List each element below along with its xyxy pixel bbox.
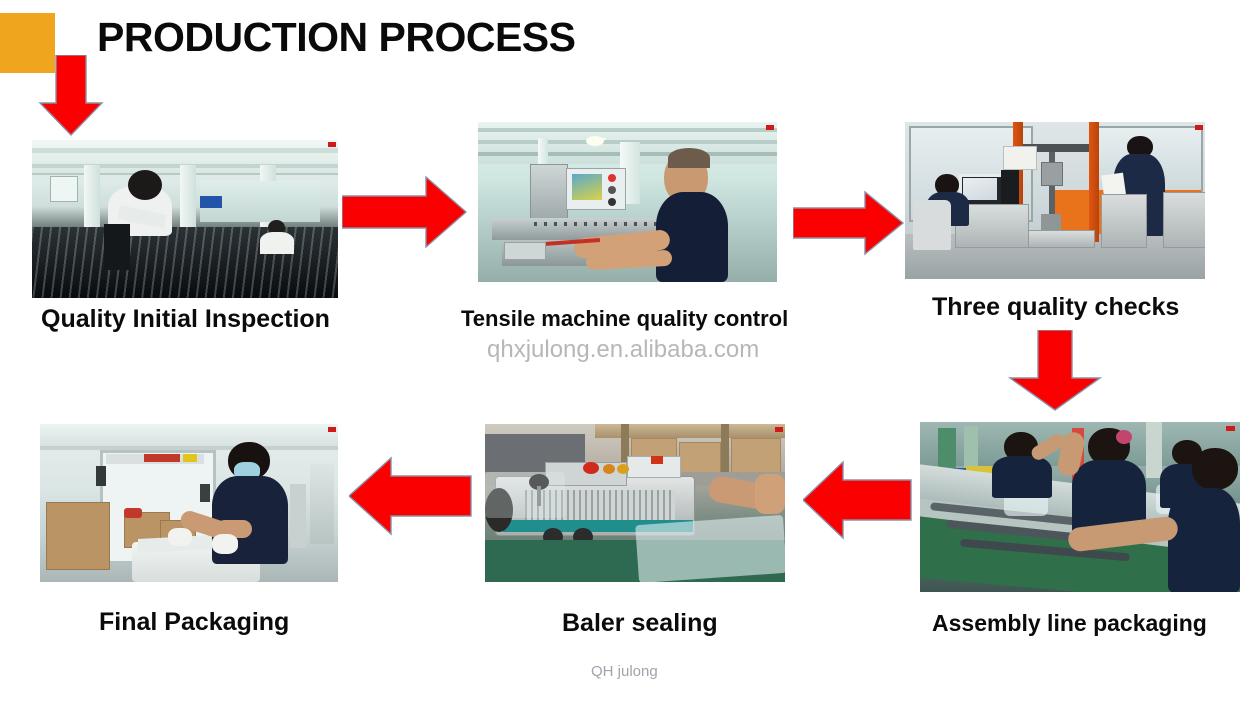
- arrow-1-to-2-icon: [342, 175, 468, 249]
- watermark-brand: QH julong: [591, 664, 658, 679]
- step-6-caption: Final Packaging: [99, 610, 289, 635]
- arrow-4-to-5-icon: [803, 460, 913, 542]
- arrow-5-to-6-icon: [349, 456, 473, 538]
- arrow-3-to-4-icon: [1008, 330, 1102, 412]
- step-5-caption: Baler sealing: [562, 611, 718, 636]
- step-3-caption: Three quality checks: [932, 295, 1179, 320]
- step-3-image: [905, 122, 1205, 279]
- step-4-caption: Assembly line packaging: [932, 612, 1207, 635]
- page-title: PRODUCTION PROCESS: [97, 17, 576, 58]
- arrow-title-down-icon: [38, 55, 104, 137]
- step-1-image: [32, 140, 338, 298]
- step-5-image: [485, 424, 785, 582]
- step-2-caption: Tensile machine quality control: [461, 308, 788, 330]
- step-2-image: [478, 122, 777, 282]
- watermark-url: qhxjulong.en.alibaba.com: [487, 338, 759, 362]
- step-4-image: [920, 422, 1240, 592]
- slide-canvas: PRODUCTION PROCESS: [0, 0, 1254, 701]
- step-1-caption: Quality Initial Inspection: [41, 307, 330, 332]
- arrow-2-to-3-icon: [793, 190, 905, 256]
- step-6-image: [40, 424, 338, 582]
